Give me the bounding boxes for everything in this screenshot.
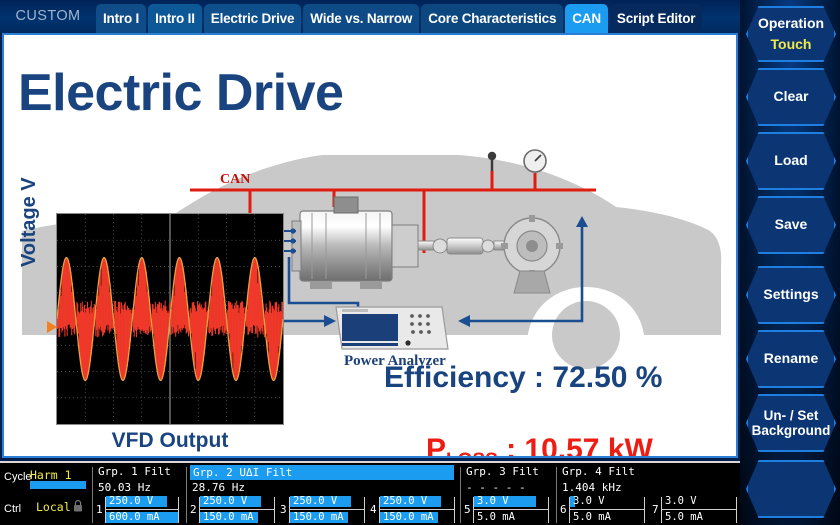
tab-core-characteristics[interactable]: Core Characteristics <box>421 4 563 33</box>
tab-script-editor[interactable]: Script Editor <box>610 4 702 33</box>
tab-bar: CUSTOM Intro I Intro II Electric Drive W… <box>0 0 740 33</box>
status-ctrl-key: Ctrl <box>4 503 21 515</box>
status-channel-7-current: 5.0 mA <box>665 511 703 523</box>
status-cycle-value: Harm 1 <box>30 468 72 482</box>
status-channel-3[interactable]: 3 250.0 V 150.0 mA <box>280 495 368 525</box>
sidebar-button-operation[interactable]: Operation Touch <box>746 6 836 62</box>
status-channel-4-current: 150.0 mA <box>383 511 434 523</box>
status-channel-6-number: 6 <box>560 503 567 516</box>
scope-display[interactable] <box>56 213 284 425</box>
sidebar-button-load-label: Load <box>774 153 807 169</box>
sidebar-button-set-background[interactable]: Un- / Set Background <box>746 394 836 452</box>
status-divider-4 <box>556 467 557 523</box>
custom-label: CUSTOM <box>0 8 96 33</box>
sidebar-button-set-background-line2: Background <box>752 423 831 438</box>
tab-intro-ii[interactable]: Intro II <box>148 4 202 33</box>
status-channel-5-voltage: 3.0 V <box>477 495 509 507</box>
tab-electric-drive[interactable]: Electric Drive <box>204 4 302 33</box>
sidebar-button-load[interactable]: Load <box>746 132 836 190</box>
sidebar-button-set-background-line1: Un- / Set <box>764 408 819 423</box>
sidebar-button-save-label: Save <box>775 217 808 233</box>
status-channel-1-voltage: 250.0 V <box>109 495 153 507</box>
status-channel-2-number: 2 <box>190 503 197 516</box>
status-group-3-frequency: - - - - - <box>466 481 526 494</box>
status-channel-4[interactable]: 4 250.0 V 150.0 mA <box>370 495 458 525</box>
status-channel-4-number: 4 <box>370 503 377 516</box>
sidebar-button-empty[interactable] <box>746 460 836 518</box>
sidebar: Operation Touch Clear Load Save Settings… <box>740 0 840 525</box>
ploss-value: : 10.57 kW <box>498 433 653 458</box>
status-channel-6-voltage: 3.0 V <box>573 495 605 507</box>
status-group-2-frequency: 28.76 Hz <box>192 481 245 494</box>
scope-y-axis-label: Voltage V <box>18 177 41 267</box>
sidebar-button-clear[interactable]: Clear <box>746 68 836 126</box>
status-group-1-header: Grp. 1 Filt <box>98 465 171 478</box>
status-channel-7-number: 7 <box>652 503 659 516</box>
status-cycle-block: Cycle Harm 1 Ctrl Local <box>4 463 88 525</box>
sidebar-button-operation-value: Touch <box>771 37 812 53</box>
status-cycle-bar <box>30 481 86 489</box>
status-channel-1[interactable]: 1 250.0 V 600.0 mA <box>96 495 182 525</box>
page-title: Electric Drive <box>18 63 343 123</box>
tab-intro-i[interactable]: Intro I <box>96 4 146 33</box>
trigger-marker-icon <box>47 321 57 333</box>
ploss-subscript: LOSS <box>446 450 498 458</box>
efficiency-readout: Efficiency : 72.50 % <box>384 361 662 395</box>
status-cycle-key: Cycle <box>4 471 32 483</box>
status-ctrl-value: Local <box>36 500 71 514</box>
status-channel-2[interactable]: 2 250.0 V 150.0 mA <box>190 495 278 525</box>
status-ctrl-row[interactable]: Ctrl Local <box>4 499 88 519</box>
status-group-4[interactable]: Grp. 4 Filt 1.404 kHz 6 3.0 V 5.0 mA 7 3… <box>560 463 740 525</box>
application-window: CUSTOM Intro I Intro II Electric Drive W… <box>0 0 840 525</box>
sidebar-button-rename-label: Rename <box>764 351 818 367</box>
tab-wide-vs-narrow[interactable]: Wide vs. Narrow <box>303 4 419 33</box>
sidebar-button-operation-label: Operation <box>758 16 824 32</box>
sidebar-button-rename[interactable]: Rename <box>746 330 836 388</box>
status-group-1[interactable]: Grp. 1 Filt 50.03 Hz 1 250.0 V 600.0 mA <box>96 463 182 525</box>
status-group-3[interactable]: Grp. 3 Filt - - - - - 5 3.0 V 5.0 mA <box>464 463 552 525</box>
status-channel-5-current: 5.0 mA <box>477 511 515 523</box>
lock-icon <box>73 499 83 512</box>
pressure-gauge-icon <box>524 150 546 172</box>
status-channel-7[interactable]: 7 3.0 V 5.0 mA <box>652 495 740 525</box>
sidebar-button-settings[interactable]: Settings <box>746 266 836 324</box>
status-channel-2-current: 150.0 mA <box>203 511 254 523</box>
status-divider-1 <box>92 467 93 523</box>
status-channel-3-voltage: 250.0 V <box>293 495 337 507</box>
status-channel-1-current: 600.0 mA <box>109 511 160 523</box>
status-group-2[interactable]: Grp. 2 UΔI Filt 28.76 Hz 2 250.0 V 150.0… <box>190 463 458 525</box>
status-bar: Cycle Harm 1 Ctrl Local Grp. 1 Filt 50.0… <box>0 461 740 525</box>
scope-canvas <box>56 213 284 425</box>
can-bus-label: CAN <box>220 172 250 187</box>
sidebar-button-save[interactable]: Save <box>746 196 836 254</box>
power-loss-readout: PLOSS : 10.57 kW <box>426 433 653 458</box>
content-panel: CAN <box>2 33 738 458</box>
sidebar-button-settings-label: Settings <box>763 287 818 303</box>
tab-can[interactable]: CAN <box>565 4 608 33</box>
status-channel-5-number: 5 <box>464 503 471 516</box>
status-channel-3-number: 3 <box>280 503 287 516</box>
status-divider-3 <box>460 467 461 523</box>
status-group-4-frequency: 1.404 kHz <box>562 481 622 494</box>
status-channel-6-current: 5.0 mA <box>573 511 611 523</box>
status-channel-1-number: 1 <box>96 503 103 516</box>
status-channel-3-current: 150.0 mA <box>293 511 344 523</box>
status-channel-6[interactable]: 6 3.0 V 5.0 mA <box>560 495 648 525</box>
status-channel-7-voltage: 3.0 V <box>665 495 697 507</box>
status-group-3-header: Grp. 3 Filt <box>466 465 539 478</box>
status-group-4-header: Grp. 4 Filt <box>562 465 635 478</box>
status-channel-5[interactable]: 5 3.0 V 5.0 mA <box>464 495 552 525</box>
status-group-2-header: Grp. 2 UΔI Filt <box>190 465 454 480</box>
status-channel-2-voltage: 250.0 V <box>203 495 247 507</box>
scope-caption: VFD Output <box>56 429 284 453</box>
status-channel-4-voltage: 250.0 V <box>383 495 427 507</box>
power-analyzer-icon <box>336 307 448 349</box>
status-divider-2 <box>186 467 187 523</box>
status-group-1-frequency: 50.03 Hz <box>98 481 151 494</box>
sidebar-button-clear-label: Clear <box>773 89 808 105</box>
status-cycle-row[interactable]: Cycle Harm 1 <box>4 467 88 489</box>
ploss-prefix: P <box>426 433 446 458</box>
